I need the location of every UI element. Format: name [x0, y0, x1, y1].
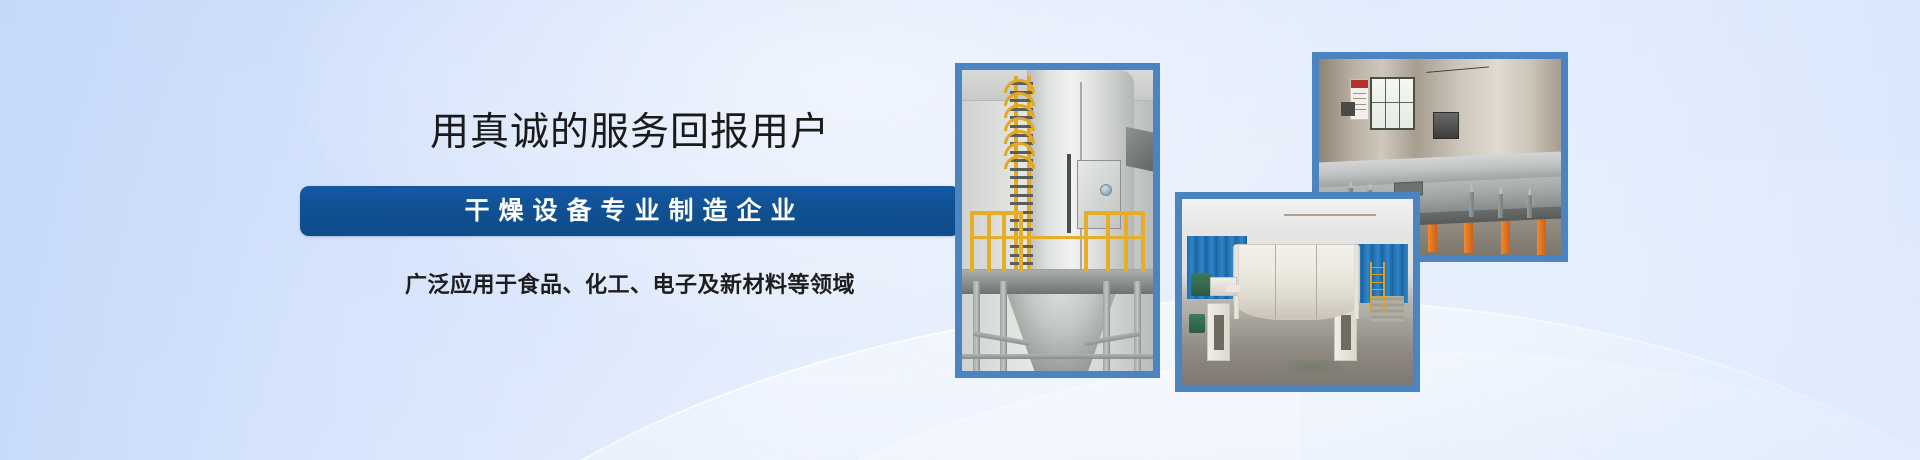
- banner-subline: 广泛应用于食品、化工、电子及新材料等领域: [300, 267, 960, 299]
- workshop-window: [1370, 77, 1415, 130]
- photo-ribbon-mixer-image: [1182, 199, 1413, 385]
- photo-spray-drying-tower-image: [962, 70, 1153, 371]
- mixer-shaft: [1226, 285, 1240, 292]
- yellow-ladder: [1370, 262, 1386, 310]
- promo-banner: 用真诚的服务回报用户 干燥设备专业制造企业 广泛应用于食品、化工、电子及新材料等…: [0, 0, 1920, 460]
- banner-ribbon-tagline: 干燥设备专业制造企业: [300, 186, 960, 236]
- wall-electrical-box: [1341, 102, 1356, 116]
- mixer-floor-stain: [1288, 359, 1339, 374]
- tower-duct: [1126, 127, 1153, 173]
- banner-text-block: 用真诚的服务回报用户 干燥设备专业制造企业 广泛应用于食品、化工、电子及新材料等…: [300, 110, 960, 299]
- mixer-roof-truss: [1284, 214, 1376, 235]
- banner-headline: 用真诚的服务回报用户: [300, 110, 960, 156]
- mixer-leg-left: [1207, 303, 1230, 361]
- mixer-secondary-motor: [1189, 314, 1205, 333]
- control-box: [1433, 112, 1459, 139]
- mixer-vessel: [1233, 244, 1360, 320]
- tower-hatch-arm: [1067, 154, 1071, 232]
- tower-platform-deck: [962, 269, 1153, 294]
- tower-sight-glass: [1100, 184, 1112, 196]
- photo-ribbon-mixer[interactable]: [1175, 192, 1420, 392]
- photo-spray-drying-tower[interactable]: [955, 63, 1160, 378]
